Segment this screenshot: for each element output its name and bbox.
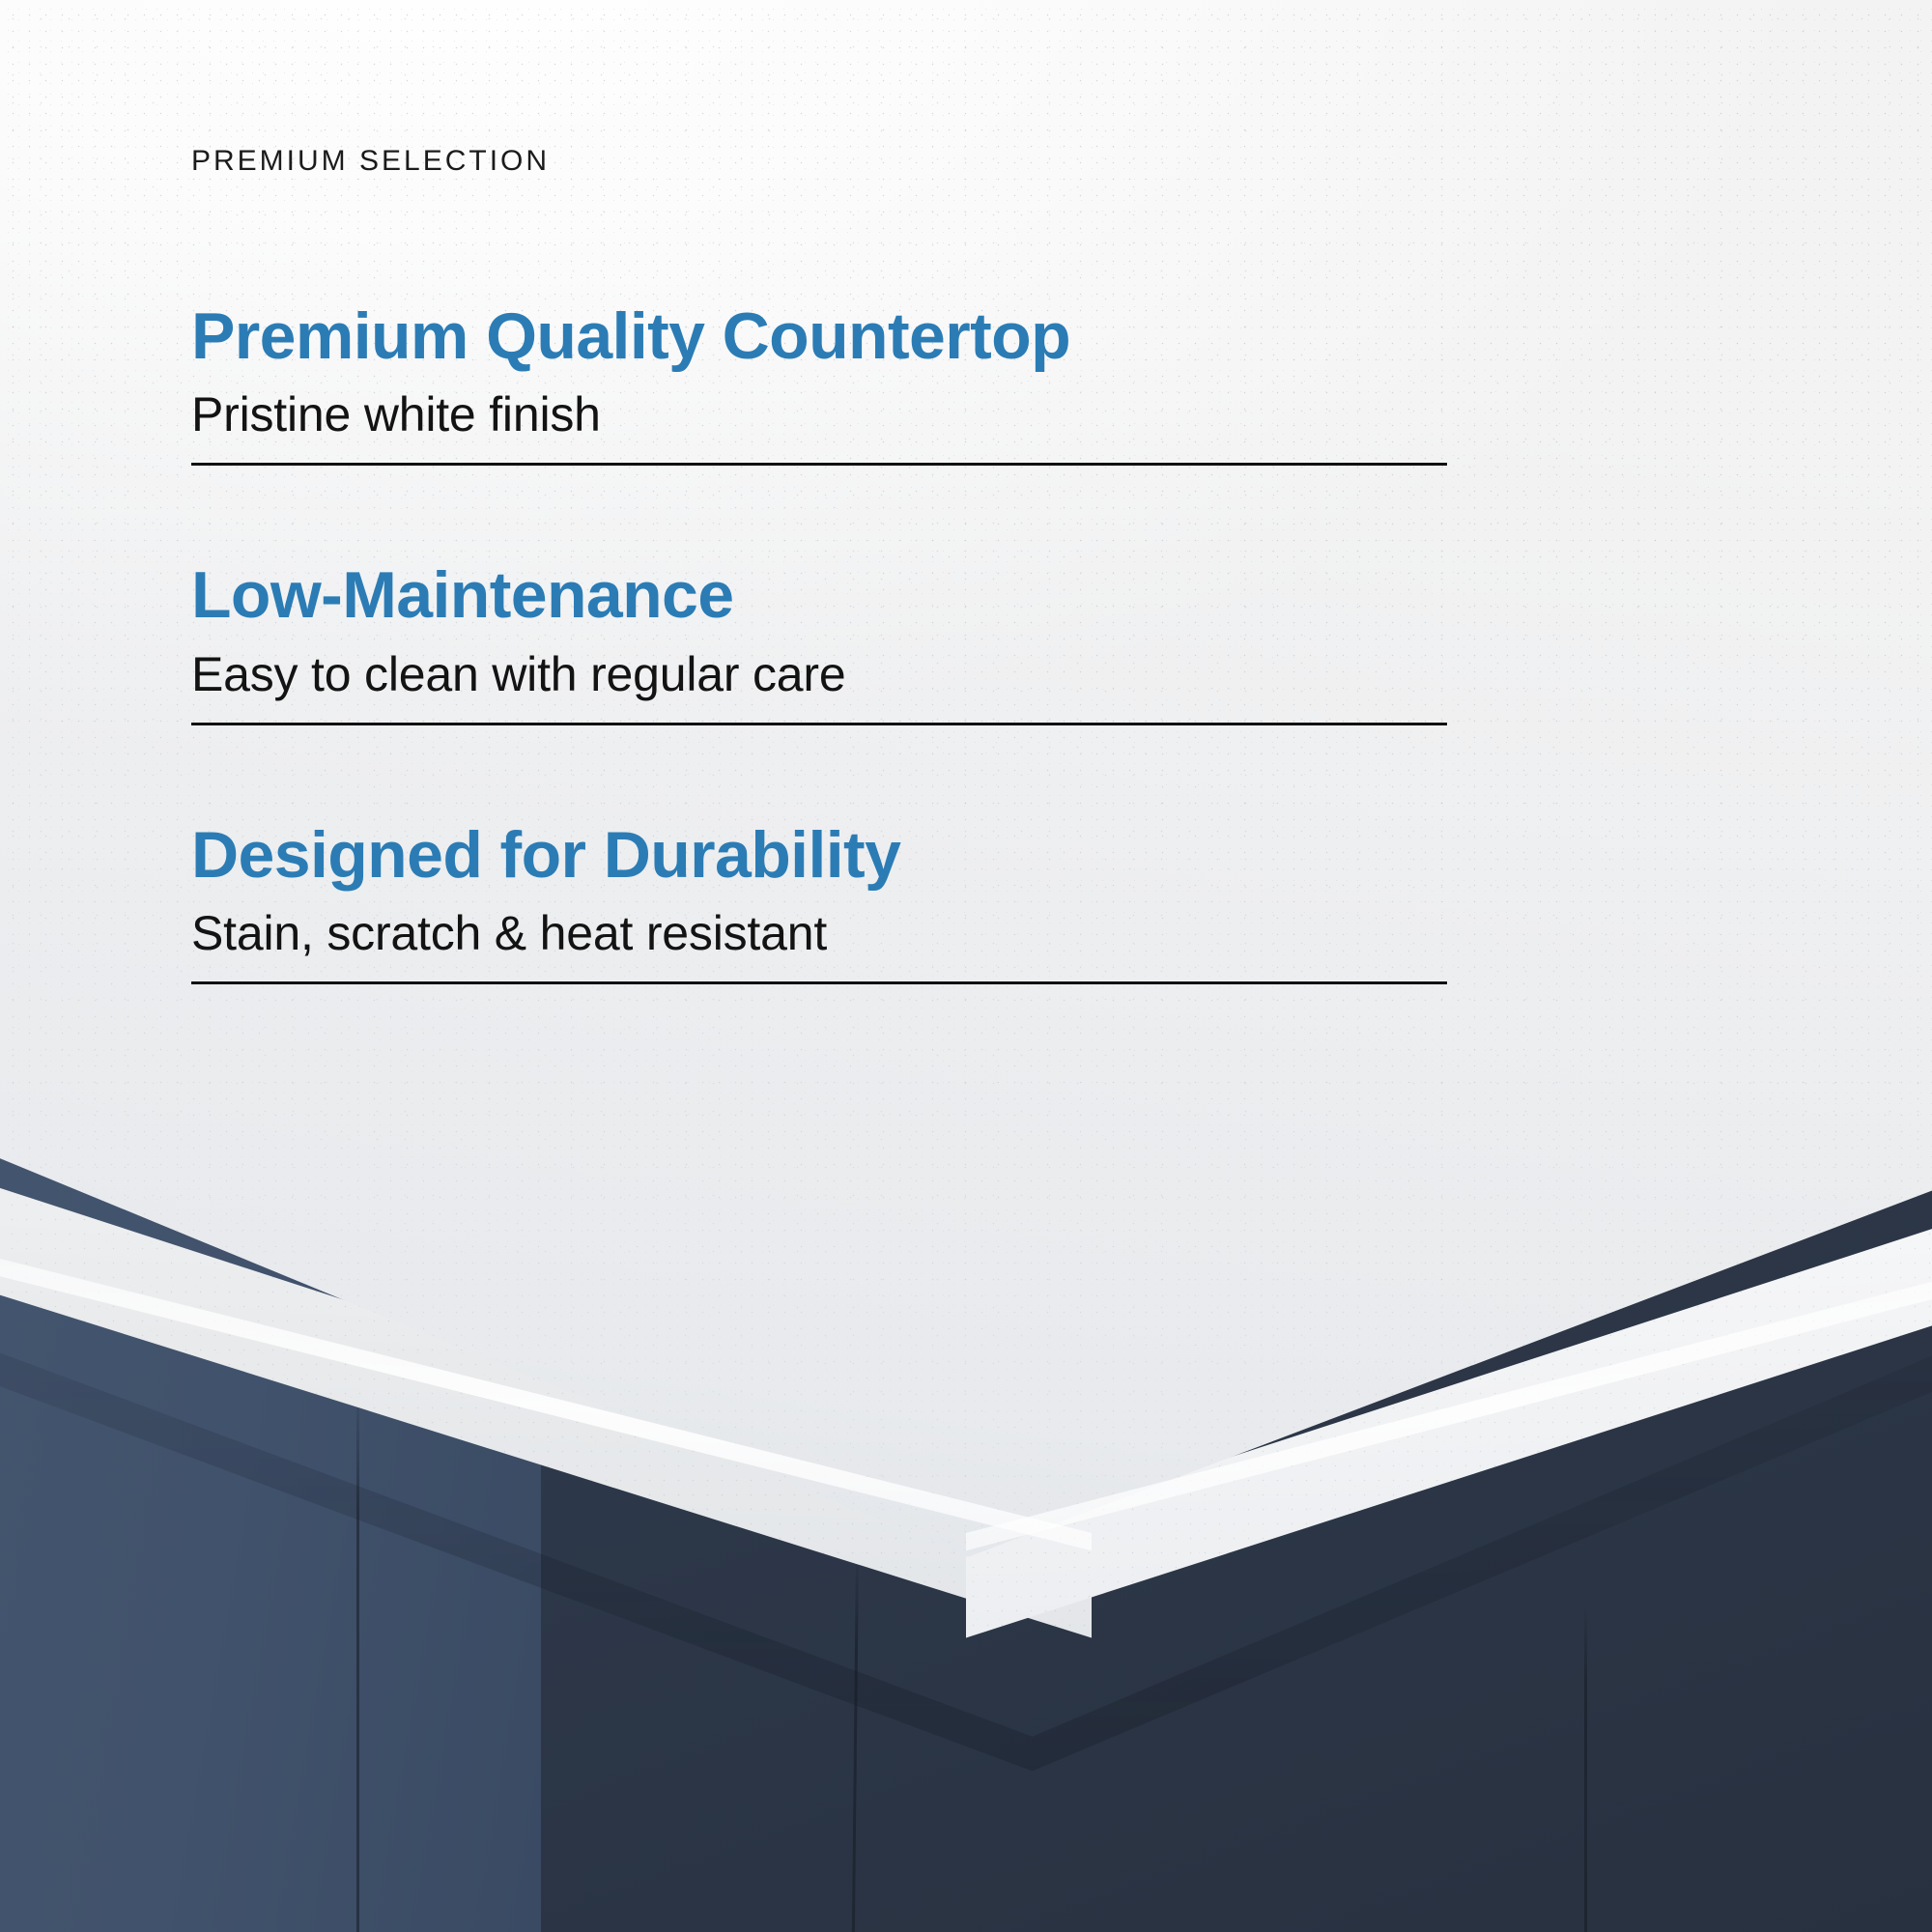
cabinet-door-seam <box>1584 1604 1587 1932</box>
feature-title: Low-Maintenance <box>191 562 1466 629</box>
feature-item: Low-Maintenance Easy to clean with regul… <box>191 562 1466 724</box>
feature-divider <box>191 981 1447 984</box>
feature-list: PREMIUM SELECTION Premium Quality Counte… <box>191 145 1466 984</box>
eyebrow-label: PREMIUM SELECTION <box>191 145 1466 178</box>
feature-description: Easy to clean with regular care <box>191 647 1466 701</box>
product-feature-graphic: PREMIUM SELECTION Premium Quality Counte… <box>0 0 1932 1932</box>
feature-title: Premium Quality Countertop <box>191 303 1466 370</box>
feature-title: Designed for Durability <box>191 822 1466 889</box>
feature-description: Stain, scratch & heat resistant <box>191 906 1466 960</box>
feature-description: Pristine white finish <box>191 387 1466 441</box>
feature-divider <box>191 463 1447 466</box>
feature-item: Premium Quality Countertop Pristine whit… <box>191 303 1466 466</box>
cabinet-door-seam <box>356 1381 359 1932</box>
feature-divider <box>191 723 1447 725</box>
feature-item: Designed for Durability Stain, scratch &… <box>191 822 1466 984</box>
